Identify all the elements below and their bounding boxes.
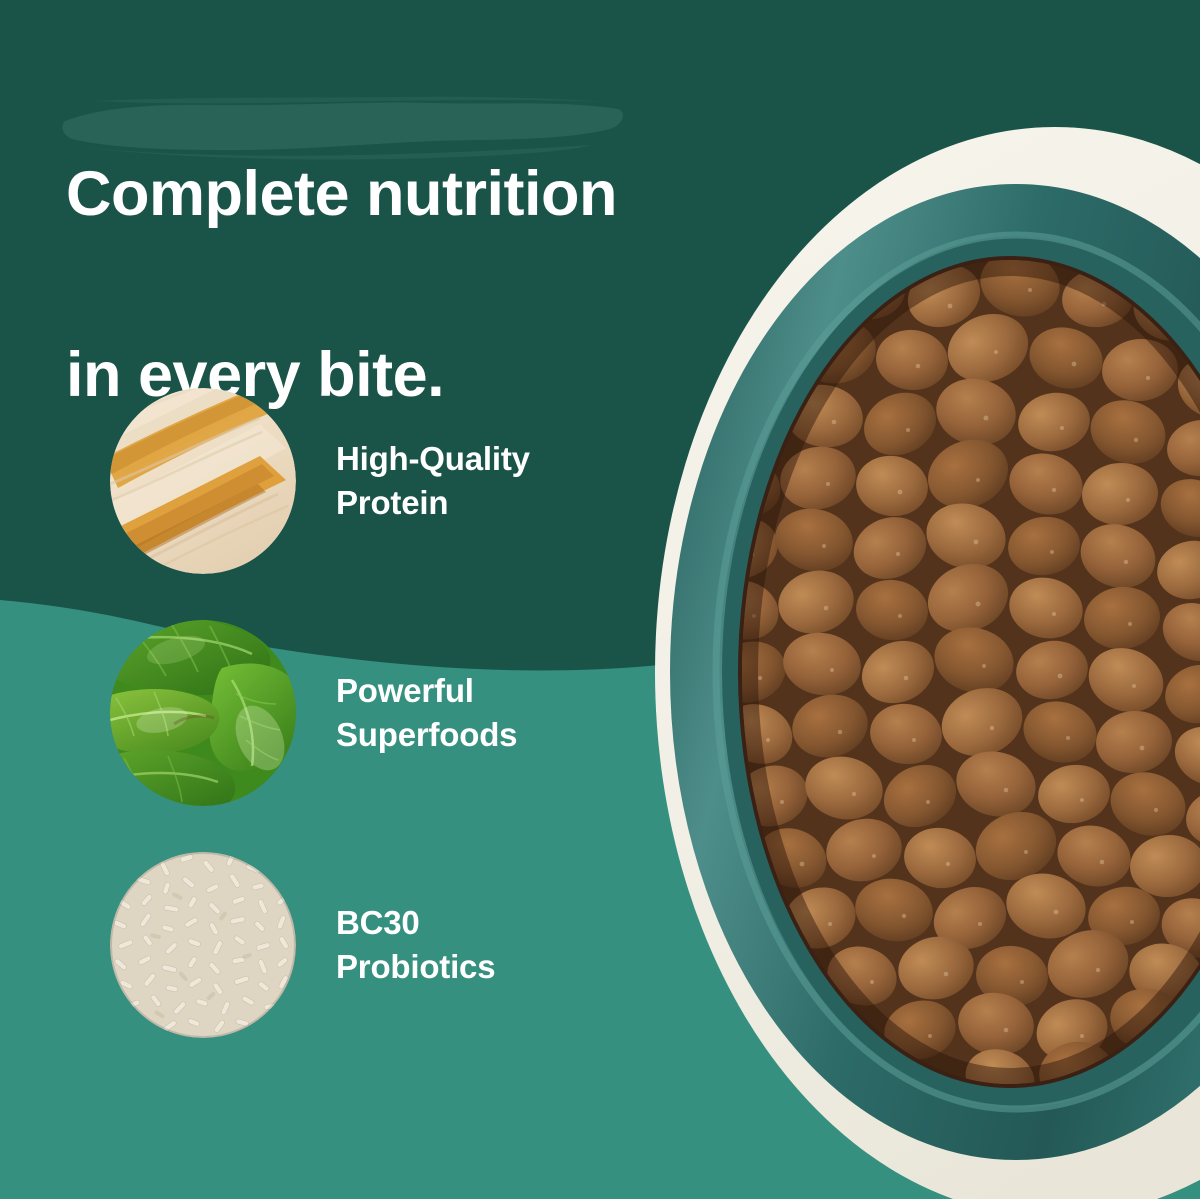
feature-label-powerful-superfoods: Powerful Superfoods [336, 669, 517, 757]
grilled-chicken-icon [110, 388, 296, 574]
spinach-leaves-icon [110, 620, 296, 806]
probiotic-granules-icon [110, 852, 296, 1038]
feature-item-high-quality-protein: High-Quality Protein [110, 388, 530, 574]
nutrition-hero-banner: Complete nutrition in every bite. [0, 0, 1200, 1199]
feature-label-bc30-probiotics: BC30 Probiotics [336, 901, 495, 989]
feature-label-high-quality-protein: High-Quality Protein [336, 437, 530, 525]
grilled-chicken-art [110, 388, 296, 574]
spinach-leaves-art [110, 620, 296, 806]
feature-item-powerful-superfoods: Powerful Superfoods [110, 620, 530, 806]
headline-line-1: Complete nutrition [66, 149, 886, 240]
feature-item-bc30-probiotics: BC30 Probiotics [110, 852, 530, 1038]
probiotic-granules-art [110, 852, 296, 1038]
feature-list: High-Quality Protein [110, 388, 530, 1038]
